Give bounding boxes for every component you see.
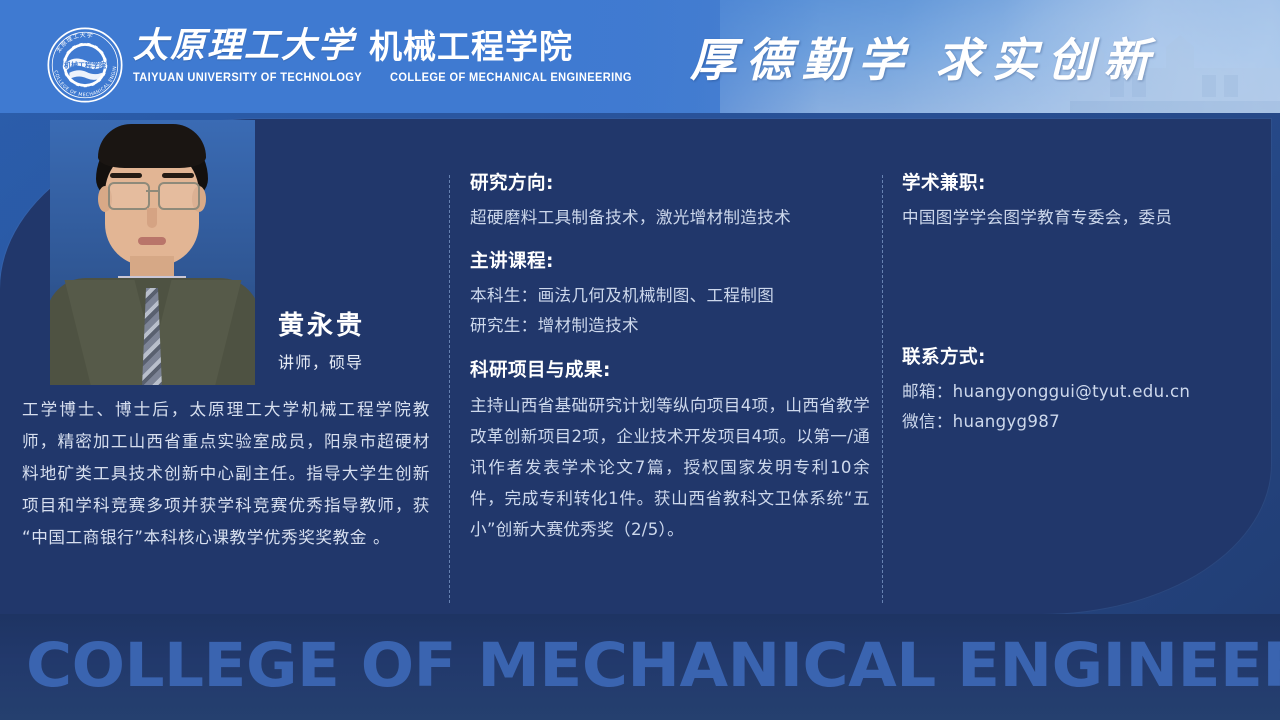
footer-banner-text: COLLEGE OF MECHANICAL ENGINEERING <box>26 630 1280 702</box>
appointments-body: 中国图学学会图学教育专委会，委员 <box>902 203 1262 232</box>
college-name-cn: 机械工程学院 <box>369 30 573 63</box>
person-bio: 工学博士、博士后，太原理工大学机械工程学院教师，精密加工山西省重点实验室成员，阳… <box>22 394 430 554</box>
page-header: 机械工程学院 太原理工大学 COLLEGE OF MECHANICAL ENGI… <box>0 0 1280 113</box>
section-research: 研究方向: 超硬磨料工具制备技术，激光增材制造技术 <box>470 169 870 232</box>
courses-undergrad: 本科生：画法几何及机械制图、工程制图 <box>470 281 870 311</box>
research-body: 超硬磨料工具制备技术，激光增材制造技术 <box>470 203 870 232</box>
courses-heading: 主讲课程: <box>470 247 870 273</box>
contact-heading: 联系方式: <box>902 343 1262 369</box>
page-footer: COLLEGE OF MECHANICAL ENGINEERING <box>0 614 1280 720</box>
projects-body: 主持山西省基础研究计划等纵向项目4项，山西省教学改革创新项目2项，企业技术开发项… <box>470 390 870 545</box>
column-right-spacer <box>902 247 1262 343</box>
column-divider-left <box>449 175 450 603</box>
appointments-heading: 学术兼职: <box>902 169 1262 195</box>
column-middle: 研究方向: 超硬磨料工具制备技术，激光增材制造技术 主讲课程: 本科生：画法几何… <box>470 169 870 560</box>
projects-heading: 科研项目与成果: <box>470 356 870 382</box>
logo-wordmark: 太原理工大学 机械工程学院 TAIYUAN UNIVERSITY OF TECH… <box>133 28 642 84</box>
college-name-en: COLLEGE OF MECHANICAL ENGINEERING <box>390 72 632 84</box>
profile-card: 黄永贵 讲师，硕导 工学博士、博士后，太原理工大学机械工程学院教师，精密加工山西… <box>0 119 1271 614</box>
person-title: 讲师，硕导 <box>278 349 363 373</box>
contact-wechat[interactable]: 微信：huangyg987 <box>902 407 1262 437</box>
svg-text:机械工程学院: 机械工程学院 <box>64 60 106 69</box>
slide-root: 机械工程学院 太原理工大学 COLLEGE OF MECHANICAL ENGI… <box>0 0 1280 720</box>
university-emblem-icon: 机械工程学院 太原理工大学 COLLEGE OF MECHANICAL ENGI… <box>46 26 124 104</box>
motto-calligraphy: 厚德勤学 求实创新 <box>690 22 1210 92</box>
section-appointments: 学术兼职: 中国图学学会图学教育专委会，委员 <box>902 169 1262 232</box>
university-name-en: TAIYUAN UNIVERSITY OF TECHNOLOGY <box>133 72 362 84</box>
person-name: 黄永贵 <box>278 305 365 342</box>
column-right: 学术兼职: 中国图学学会图学教育专委会，委员 联系方式: 邮箱：huangyon… <box>902 169 1262 452</box>
research-heading: 研究方向: <box>470 169 870 195</box>
section-projects: 科研项目与成果: 主持山西省基础研究计划等纵向项目4项，山西省教学改革创新项目2… <box>470 356 870 545</box>
university-name-cn: 太原理工大学 <box>133 28 355 63</box>
courses-grad: 研究生：增材制造技术 <box>470 311 870 341</box>
section-courses: 主讲课程: 本科生：画法几何及机械制图、工程制图 研究生：增材制造技术 <box>470 247 870 341</box>
column-divider-right <box>882 175 883 603</box>
portrait-photo <box>50 120 255 385</box>
section-contact: 联系方式: 邮箱：huangyonggui@tyut.edu.cn 微信：hua… <box>902 343 1262 437</box>
contact-email[interactable]: 邮箱：huangyonggui@tyut.edu.cn <box>902 377 1262 407</box>
